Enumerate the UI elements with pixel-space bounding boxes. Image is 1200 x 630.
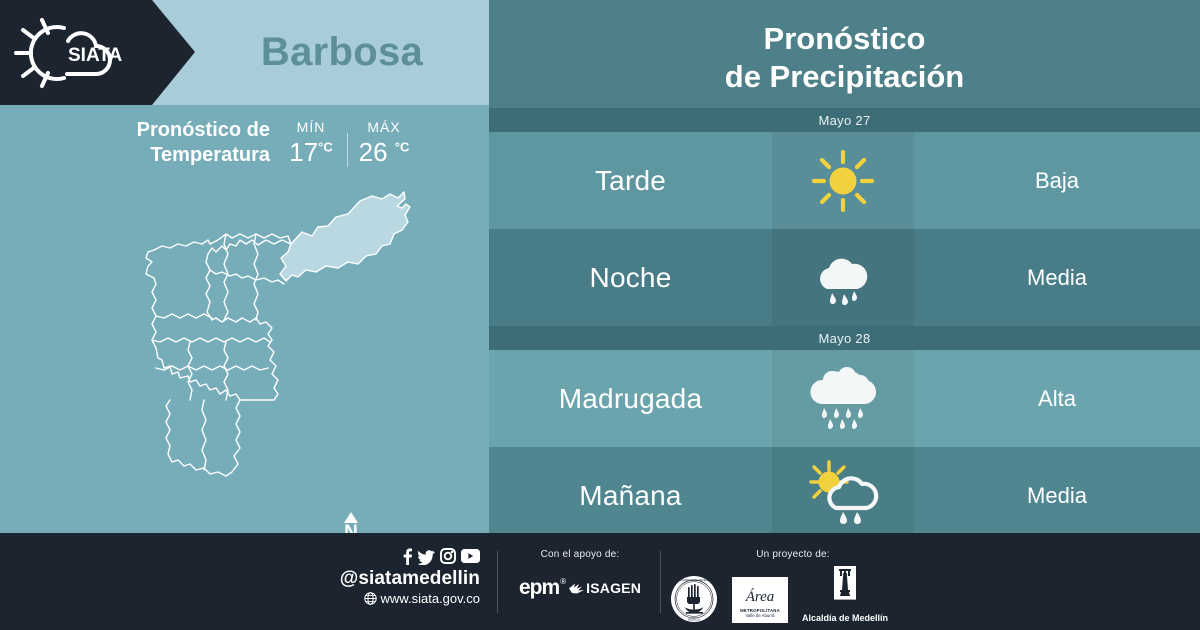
temperature-title: Pronóstico de Temperatura [88, 118, 270, 168]
weather-icon-cell [772, 229, 914, 326]
website-text: www.siata.gov.co [381, 590, 480, 607]
forecast-row-tarde[interactable]: Tarde Baja [489, 132, 1200, 229]
left-panel: SIATA Barbosa Pronóstico de Temperatura … [0, 0, 489, 533]
sun-cloud-icon: SIATA [12, 14, 137, 92]
cloud-heavy-rain-icon [805, 364, 881, 434]
weather-icon-cell [772, 350, 914, 447]
max-unit: °C [395, 139, 410, 154]
universidad-seal-icon: UNIVERSIDAD DE MEDELLIN MEDELLIN [670, 575, 718, 623]
epm-logo-text: epm [519, 576, 559, 599]
min-temperature: MÍN 17°C [280, 119, 342, 168]
map-highlight-barbosa [280, 192, 410, 281]
sun-icon [810, 148, 876, 214]
max-temperature: MÁX 26 °C [353, 119, 415, 168]
siata-logo-text: SIATA [68, 45, 122, 66]
period-label: Noche [489, 262, 772, 294]
min-max-wrap: MÍN 17°C MÁX 26 °C [280, 119, 415, 168]
support-logos: epm® ISAGEN [505, 576, 655, 600]
min-unit: °C [318, 139, 333, 154]
max-value: 26 [359, 137, 388, 167]
support-title: Con el apoyo de: [505, 549, 655, 560]
social-handle[interactable]: @siatamedellin [330, 567, 480, 590]
twitter-icon[interactable] [418, 548, 435, 565]
project-block: Un proyecto de: [668, 549, 918, 623]
precipitation-level: Alta [914, 386, 1200, 412]
instagram-icon[interactable] [440, 548, 456, 564]
forecast-panel: Pronóstico de Precipitación Mayo 27 Tard… [489, 0, 1200, 533]
forecast-title: Pronóstico de Precipitación [489, 8, 1200, 108]
epm-logo: epm® [519, 576, 559, 600]
page-title: Barbosa [195, 0, 489, 105]
precipitation-level: Media [914, 265, 1200, 291]
min-value: 17 [289, 137, 318, 167]
social-icons [330, 547, 480, 565]
moon-cloud-rain-icon [807, 245, 879, 311]
max-label: MÁX [353, 119, 415, 135]
weather-icon-cell [772, 132, 914, 229]
sun-cloud-rain-icon [803, 460, 883, 532]
area-logo-sub2: Valle de Aburrá [732, 613, 788, 618]
max-value-wrap: 26 °C [353, 137, 415, 168]
area-metropolitana-logo: Área METROPOLITANA Valle de Aburrá [732, 577, 788, 623]
weather-icon-cell [772, 447, 914, 544]
website-line[interactable]: www.siata.gov.co [330, 590, 480, 607]
svg-text:UNIVERSIDAD DE MEDELLIN: UNIVERSIDAD DE MEDELLIN [678, 579, 711, 582]
date-header-mayo-28: Mayo 28 [489, 326, 1200, 350]
map-svg [60, 182, 450, 532]
municipality-map[interactable]: N [60, 182, 450, 532]
isagen-logo-text: ISAGEN [586, 580, 641, 596]
project-title: Un proyecto de: [668, 549, 918, 560]
temperature-title-line2: Temperatura [88, 143, 270, 168]
date-header-mayo-27: Mayo 27 [489, 108, 1200, 132]
forecast-row-noche[interactable]: Noche Media [489, 229, 1200, 326]
alcaldia-medellin-logo: Alcaldía de Medellín [802, 566, 888, 623]
map-municipality-outlines [146, 234, 291, 476]
min-value-wrap: 17°C [280, 137, 342, 168]
svg-text:MEDELLIN: MEDELLIN [688, 618, 700, 621]
min-label: MÍN [280, 119, 342, 135]
isagen-logo: ISAGEN [569, 580, 641, 596]
social-block: @siatamedellin www.siata.gov.co [330, 547, 480, 607]
youtube-icon[interactable] [461, 549, 480, 563]
forecast-row-manana[interactable]: Mañana Media [489, 447, 1200, 544]
precipitation-level: Baja [914, 168, 1200, 194]
period-label: Tarde [489, 165, 772, 197]
min-max-divider [347, 133, 348, 167]
period-label: Mañana [489, 480, 772, 512]
precipitation-level: Media [914, 483, 1200, 509]
project-logos: UNIVERSIDAD DE MEDELLIN MEDELLIN Área ME… [668, 566, 918, 623]
isagen-mark-icon [569, 582, 584, 595]
support-block: Con el apoyo de: epm® ISAGEN [505, 549, 655, 600]
footer: @siatamedellin www.siata.gov.co Con el a… [0, 533, 1200, 630]
temperature-title-line1: Pronóstico de [88, 118, 270, 143]
globe-icon [364, 592, 377, 605]
forecast-row-madrugada[interactable]: Madrugada [489, 350, 1200, 447]
area-logo-word: Área [732, 589, 788, 606]
period-label: Madrugada [489, 383, 772, 415]
forecast-title-line2: de Precipitación [725, 58, 964, 96]
facebook-icon[interactable] [402, 548, 413, 565]
alcaldia-label: Alcaldía de Medellín [802, 613, 888, 623]
forecast-title-line1: Pronóstico [764, 20, 926, 58]
alcaldia-statue-icon [830, 566, 860, 606]
weather-forecast-card: SIATA Barbosa Pronóstico de Temperatura … [0, 0, 1200, 630]
epm-logo-mark: ® [560, 577, 565, 586]
footer-divider-2 [660, 551, 661, 613]
footer-divider-1 [497, 551, 498, 613]
temperature-block: Pronóstico de Temperatura MÍN 17°C MÁX 2… [0, 118, 489, 188]
